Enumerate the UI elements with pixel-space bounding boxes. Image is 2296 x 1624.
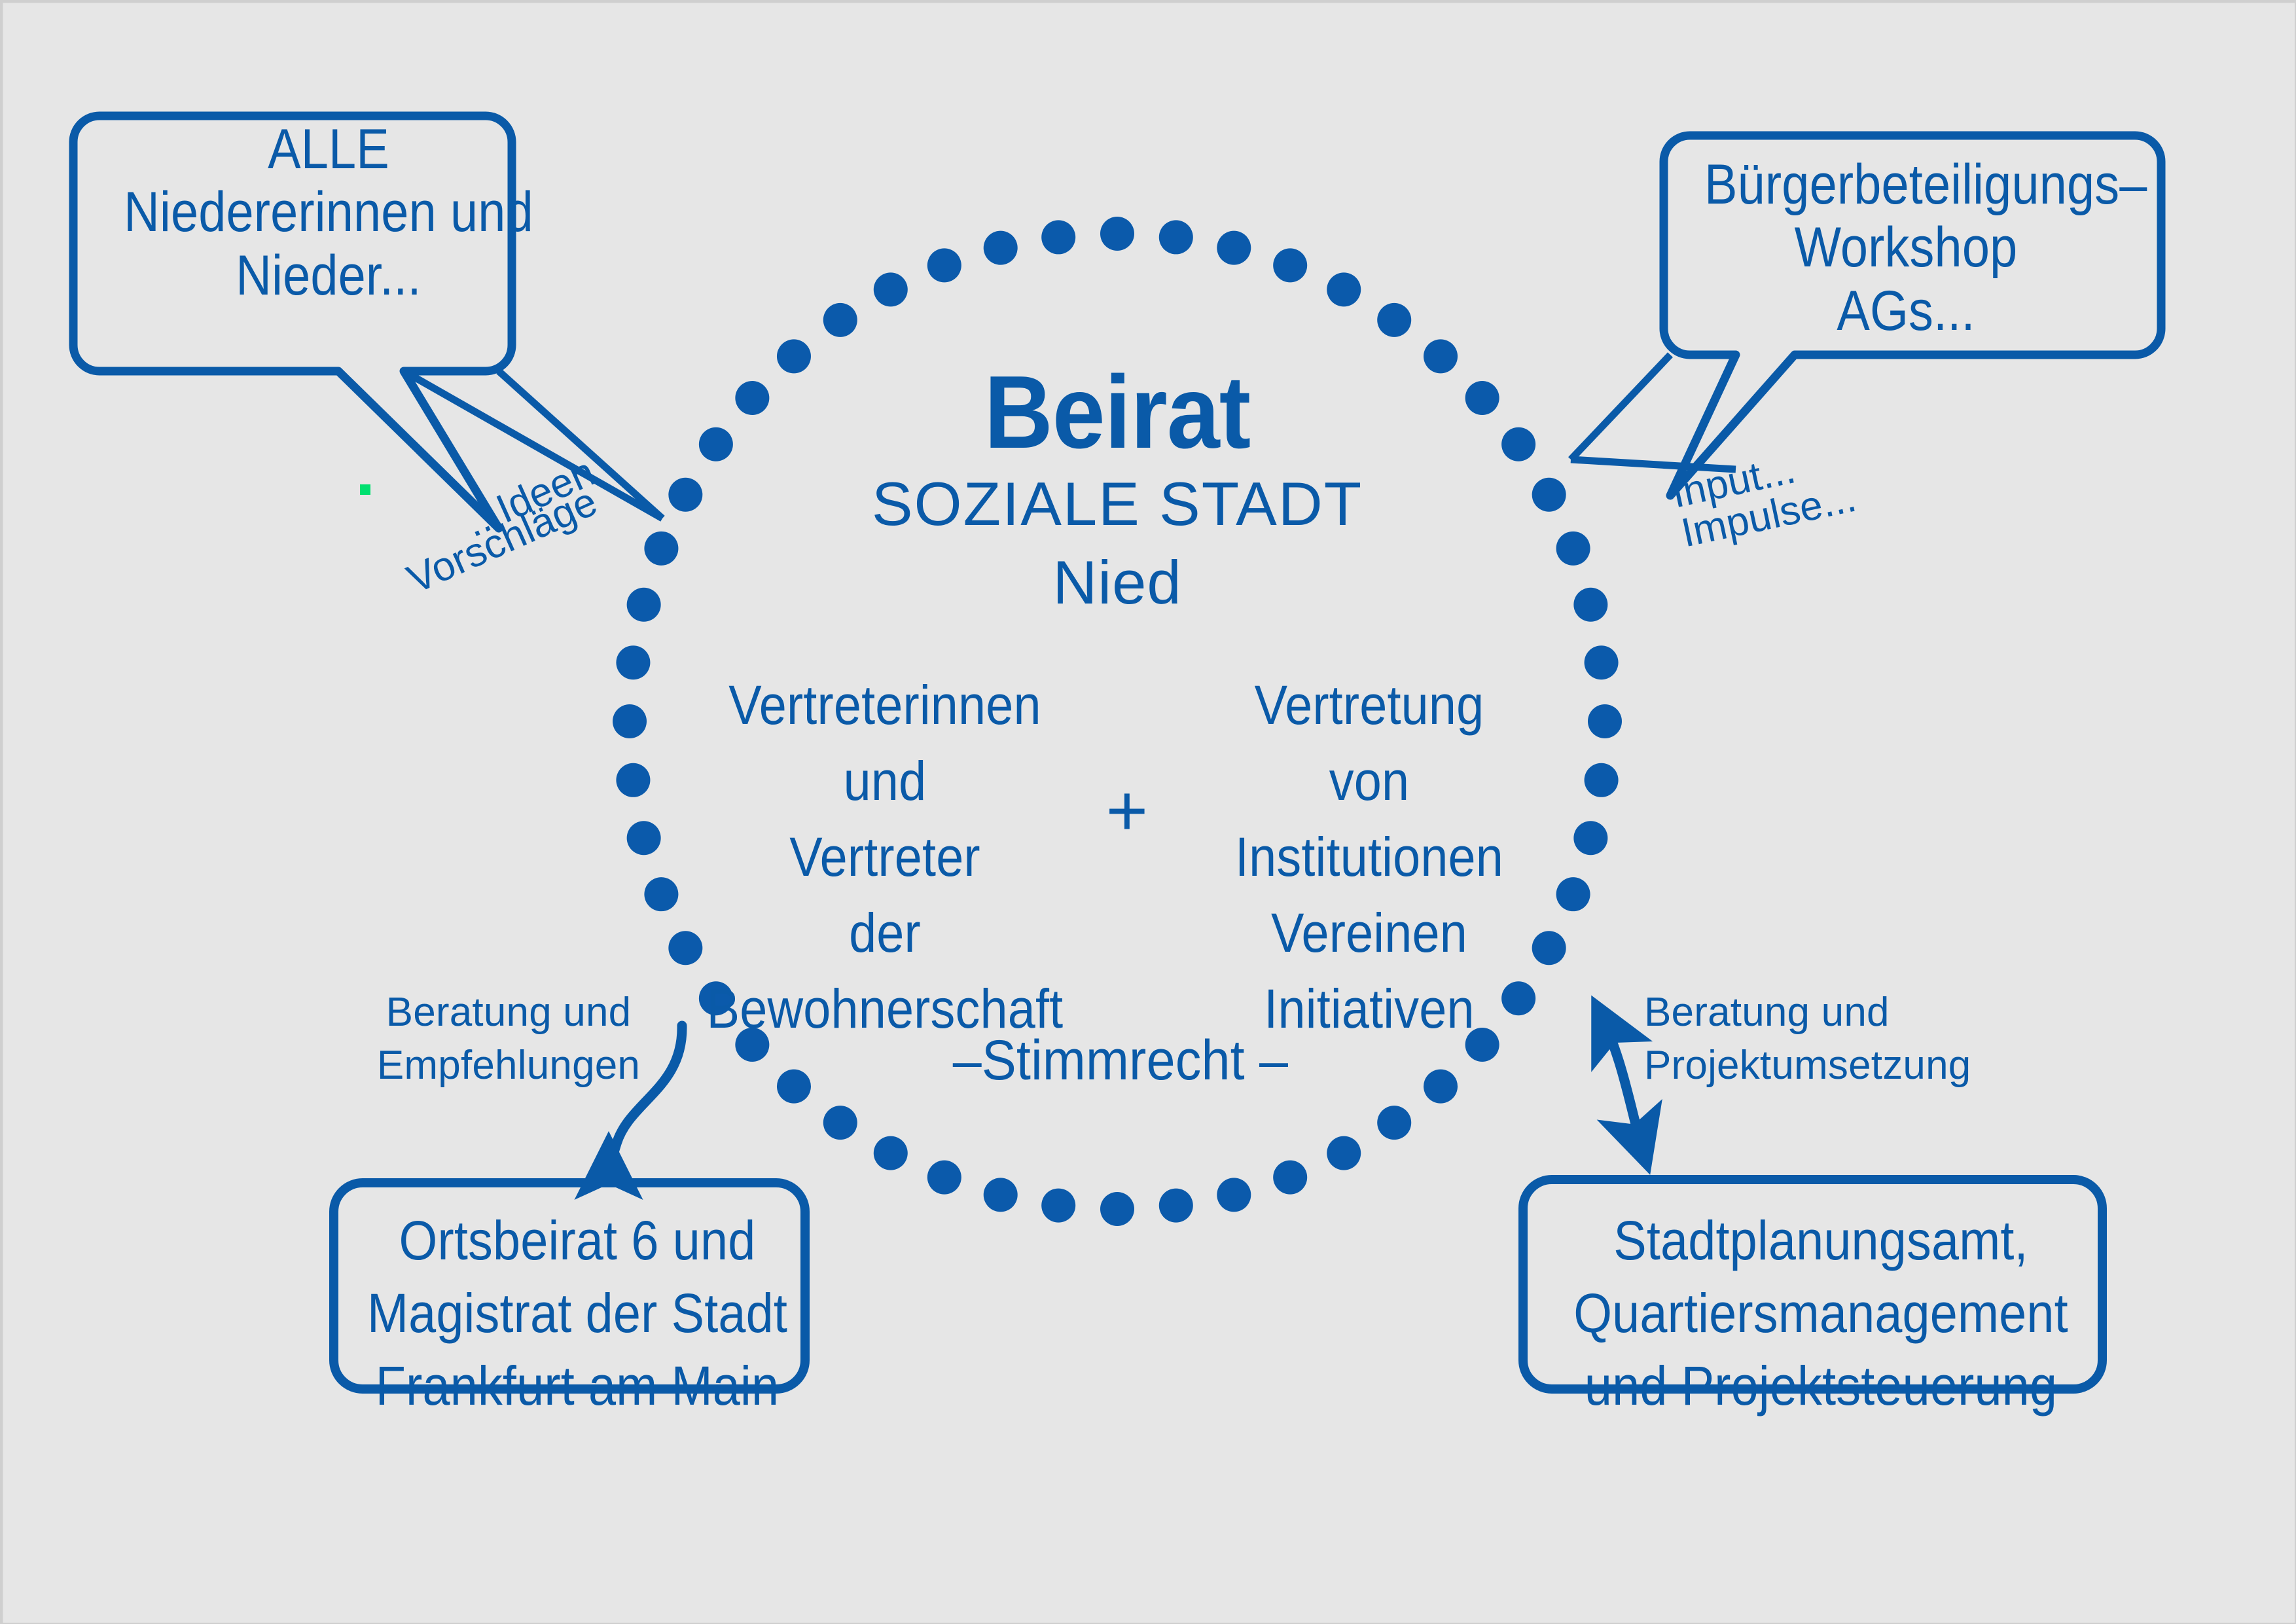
ring-dot bbox=[616, 763, 650, 797]
ring-dot bbox=[927, 248, 961, 282]
ring-dot bbox=[777, 1070, 811, 1104]
ring-dot bbox=[1217, 1178, 1251, 1212]
page-title: Beirat bbox=[816, 355, 1418, 471]
ring-dot bbox=[984, 231, 1018, 265]
ring-dot bbox=[1041, 1189, 1075, 1223]
ring-dot bbox=[1159, 220, 1193, 254]
page-subtitle-line1: SOZIALE STADT bbox=[790, 469, 1444, 538]
ring-dot bbox=[1465, 381, 1499, 415]
ring-dot bbox=[735, 381, 769, 415]
ring-dot bbox=[1573, 588, 1607, 622]
ring-dot bbox=[1217, 231, 1251, 265]
ring-dot bbox=[823, 1106, 857, 1140]
ring-dot bbox=[1273, 1161, 1307, 1195]
ring-dot bbox=[1588, 704, 1622, 738]
ring-dot bbox=[1273, 248, 1307, 282]
green-marker-square bbox=[360, 484, 370, 495]
page-subtitle-line2: Nied bbox=[790, 548, 1444, 617]
members-institutions-column: Vertretung von Institutionen Vereinen In… bbox=[1193, 668, 1546, 1047]
ring-dot bbox=[1585, 645, 1619, 679]
ring-dot bbox=[1100, 1192, 1134, 1226]
ring-dot bbox=[1532, 478, 1566, 512]
ring-dot bbox=[1501, 427, 1535, 461]
ortsbeirat-box-label: Ortsbeirat 6 und Magistrat der Stadt Fra… bbox=[359, 1204, 795, 1422]
ring-dot bbox=[874, 272, 908, 306]
ring-dot bbox=[644, 532, 678, 566]
ring-dot bbox=[1556, 877, 1590, 911]
alle-niedererinnen-bubble-label: ALLE Niedererinnen und Nieder... bbox=[121, 118, 536, 307]
ring-dot bbox=[627, 588, 661, 622]
beratung-projektumsetzung-label: Beratung und Projektumsetzung bbox=[1644, 986, 1971, 1092]
ring-dot bbox=[874, 1136, 908, 1170]
ring-dot bbox=[1041, 220, 1075, 254]
plus-symbol: + bbox=[1075, 770, 1179, 851]
ring-dot bbox=[627, 821, 661, 855]
ring-dot bbox=[1556, 532, 1590, 566]
members-residents-column: Vertreterinnen und Vertreter der Bewohne… bbox=[702, 668, 1067, 1047]
ring-dot bbox=[1100, 217, 1134, 251]
ring-dot bbox=[1327, 1136, 1361, 1170]
ring-dot bbox=[668, 931, 702, 965]
ring-dot bbox=[927, 1161, 961, 1195]
ring-dot bbox=[613, 704, 647, 738]
ring-dot bbox=[1573, 821, 1607, 855]
stimmrecht-note: –Stimmrecht – bbox=[922, 1029, 1319, 1092]
beratung-empfehlungen-label: Beratung und Empfehlungen bbox=[355, 986, 662, 1092]
ring-dot bbox=[616, 645, 650, 679]
ring-dot bbox=[668, 478, 702, 512]
ring-dot bbox=[1585, 763, 1619, 797]
ring-dot bbox=[777, 339, 811, 373]
ring-dot bbox=[1424, 339, 1458, 373]
ring-dot bbox=[644, 877, 678, 911]
ring-dot bbox=[984, 1178, 1018, 1212]
ring-dot bbox=[1327, 272, 1361, 306]
ring-dot bbox=[1377, 303, 1411, 337]
ring-dot bbox=[1424, 1070, 1458, 1104]
ring-dot bbox=[1159, 1189, 1193, 1223]
ring-dot bbox=[823, 303, 857, 337]
ring-dot bbox=[1377, 1106, 1411, 1140]
stadtplanungsamt-box-label: Stadtplanungsamt, Quartiersmanagement un… bbox=[1556, 1204, 2086, 1422]
ring-dot bbox=[699, 427, 733, 461]
beratung-projektumsetzung-arrow bbox=[1598, 1009, 1645, 1160]
buergerbeteiligungs-bubble-label: Bürgerbeteiligungs– Workshop AGs... bbox=[1704, 153, 2108, 342]
diagram-canvas: ALLE Niedererinnen und Nieder... Bürgerb… bbox=[0, 0, 2296, 1624]
